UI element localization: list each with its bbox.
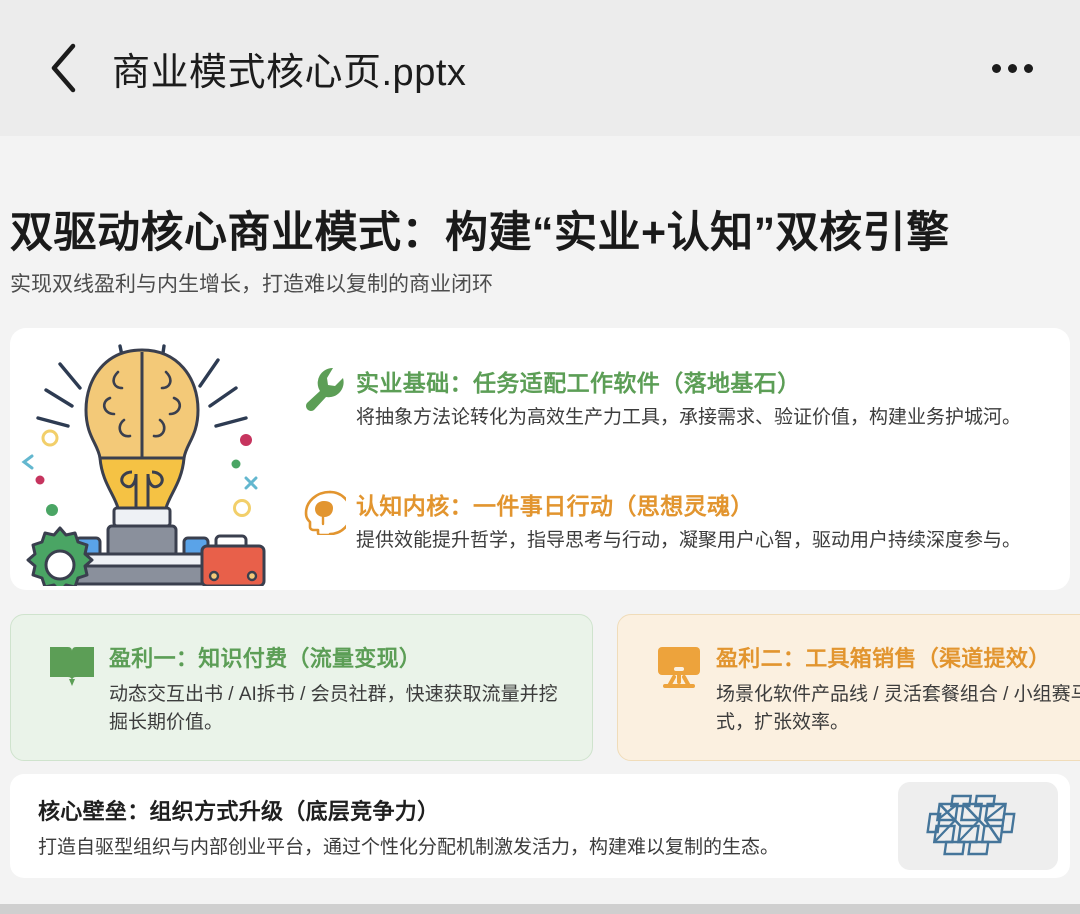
core-model-card: 实业基础：任务适配工作软件（落地基石） 将抽象方法论转化为高效生产力工具，承接需… bbox=[10, 328, 1070, 590]
profit-card-toolkit[interactable]: 盈利二：工具箱销售（渠道提效） 场景化软件产品线 / 灵活套餐组合 / 小组赛马… bbox=[617, 614, 1080, 761]
profit-card-heading: 盈利一：知识付费（流量变现） bbox=[109, 641, 568, 673]
app-screen: 商业模式核心页.pptx 双驱动核心商业模式：构建“实业+认知”双核引擎 实现双… bbox=[0, 0, 1080, 914]
network-mesh-graphic bbox=[898, 782, 1058, 870]
moat-heading: 核心壁垒：组织方式升级（底层竞争力） bbox=[38, 794, 898, 826]
more-horizontal-icon-dot bbox=[1024, 64, 1033, 73]
app-header: 商业模式核心页.pptx bbox=[0, 0, 1080, 136]
core-point-heading: 认知内核：一件事日行动（思想灵魂） bbox=[356, 487, 1044, 521]
profit-card-knowledge[interactable]: 盈利一：知识付费（流量变现） 动态交互出书 / AI拆书 / 会员社群，快速获取… bbox=[10, 614, 593, 761]
core-point-cognition: 认知内核：一件事日行动（思想灵魂） 提供效能提升哲学，指导思考与行动，凝聚用户心… bbox=[290, 487, 1044, 554]
brain-lightbulb-illustration bbox=[10, 328, 290, 590]
document-title: 商业模式核心页.pptx bbox=[112, 41, 980, 96]
core-moat-card: 核心壁垒：组织方式升级（底层竞争力） 打造自驱型组织与内部创业平台，通过个性化分… bbox=[10, 774, 1070, 878]
monitor-icon bbox=[642, 641, 716, 689]
profit-card-heading: 盈利二：工具箱销售（渠道提效） bbox=[716, 641, 1080, 673]
more-options-button[interactable] bbox=[980, 38, 1044, 98]
back-button[interactable] bbox=[36, 38, 92, 98]
core-point-industry: 实业基础：任务适配工作软件（落地基石） 将抽象方法论转化为高效生产力工具，承接需… bbox=[290, 364, 1044, 431]
core-point-heading: 实业基础：任务适配工作软件（落地基石） bbox=[356, 364, 1044, 398]
wrench-icon bbox=[290, 364, 356, 412]
profit-card-body: 动态交互出书 / AI拆书 / 会员社群，快速获取流量并挖掘长期价值。 bbox=[109, 681, 568, 736]
open-book-icon bbox=[35, 641, 109, 689]
head-brain-icon bbox=[290, 487, 356, 535]
slide-subtitle: 实现双线盈利与内生增长，打造难以复制的商业闭环 bbox=[10, 268, 1050, 298]
profit-card-body: 场景化软件产品线 / 灵活套餐组合 / 小组赛马模式，扩张效率。 bbox=[716, 681, 1080, 736]
moat-body: 打造自驱型组织与内部创业平台，通过个性化分配机制激发活力，构建难以复制的生态。 bbox=[38, 832, 898, 859]
bottom-system-bar bbox=[0, 904, 1080, 914]
core-point-body: 将抽象方法论转化为高效生产力工具，承接需求、验证价值，构建业务护城河。 bbox=[356, 405, 1044, 431]
profit-cards-row: 盈利一：知识付费（流量变现） 动态交互出书 / AI拆书 / 会员社群，快速获取… bbox=[10, 614, 1080, 761]
slide-canvas: 双驱动核心商业模式：构建“实业+认知”双核引擎 实现双线盈利与内生增长，打造难以… bbox=[0, 136, 1080, 904]
core-point-body: 提供效能提升哲学，指导思考与行动，凝聚用户心智，驱动用户持续深度参与。 bbox=[356, 528, 1044, 554]
more-horizontal-icon-dot bbox=[992, 64, 1001, 73]
more-horizontal-icon-dot bbox=[1008, 64, 1017, 73]
slide-title: 双驱动核心商业模式：构建“实业+认知”双核引擎 bbox=[10, 198, 1070, 260]
chevron-left-icon bbox=[47, 42, 81, 94]
core-points-list: 实业基础：任务适配工作软件（落地基石） 将抽象方法论转化为高效生产力工具，承接需… bbox=[290, 364, 1070, 553]
